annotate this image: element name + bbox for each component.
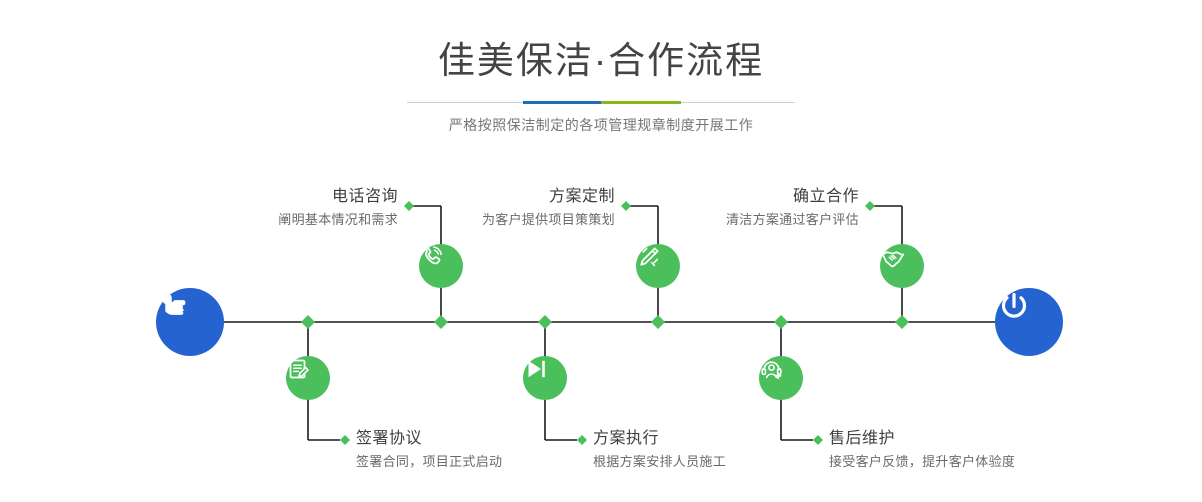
document-sign-icon [286, 356, 312, 382]
label-plan-customization: 方案定制 为客户提供项目策策划 [370, 187, 615, 229]
label-title-plan-execution: 方案执行 [593, 429, 726, 449]
diamond-label-plan-execution [577, 435, 587, 445]
handshake-icon [880, 244, 908, 272]
label-title-phone-consultation: 电话咨询 [150, 187, 398, 207]
label-desc-plan-execution: 根据方案安排人员施工 [593, 449, 726, 471]
node-icon-establish-cooperation [880, 244, 924, 288]
label-phone-consultation: 电话咨询 阐明基本情况和需求 [150, 187, 398, 229]
diamond-axis-plan-execution [538, 315, 552, 329]
skip-forward-icon [523, 356, 549, 382]
label-sign-agreement: 签署协议 签署合同，项目正式启动 [356, 429, 502, 471]
pencil-edit-icon [636, 244, 662, 270]
diamond-axis-establish-cooperation [895, 315, 909, 329]
label-plan-execution: 方案执行 根据方案安排人员施工 [593, 429, 726, 471]
label-title-after-sales-maintenance: 售后维护 [829, 429, 1015, 449]
label-title-establish-cooperation: 确立合作 [614, 187, 859, 207]
flow-diagram: 电话咨询 阐明基本情况和需求 方案定制 为客户提供项目策策划 确立合作 清洁方案… [0, 0, 1202, 502]
node-icon-plan-execution [523, 356, 567, 400]
pointing-hand-icon [156, 288, 192, 324]
phone-call-icon [419, 244, 445, 270]
node-icon-phone-consultation [419, 244, 463, 288]
label-title-sign-agreement: 签署协议 [356, 429, 502, 449]
diamond-axis-phone-consultation [434, 315, 448, 329]
label-desc-after-sales-maintenance: 接受客户反馈，提升客户体验度 [829, 449, 1015, 471]
diamond-axis-sign-agreement [301, 315, 315, 329]
power-icon [995, 288, 1033, 326]
label-desc-sign-agreement: 签署合同，项目正式启动 [356, 449, 502, 471]
label-title-plan-customization: 方案定制 [370, 187, 615, 207]
node-icon-plan-customization [636, 244, 680, 288]
diamond-label-sign-agreement [340, 435, 350, 445]
label-after-sales-maintenance: 售后维护 接受客户反馈，提升客户体验度 [829, 429, 1015, 471]
diamond-axis-after-sales-maintenance [774, 315, 788, 329]
node-icon-sign-agreement [286, 356, 330, 400]
flow-end-endpoint [995, 288, 1063, 356]
label-establish-cooperation: 确立合作 清洁方案通过客户评估 [614, 187, 859, 229]
node-icon-after-sales-maintenance [759, 356, 803, 400]
label-desc-plan-customization: 为客户提供项目策策划 [370, 207, 615, 229]
flow-start-endpoint [156, 288, 224, 356]
diamond-label-establish-cooperation [865, 201, 875, 211]
label-desc-establish-cooperation: 清洁方案通过客户评估 [614, 207, 859, 229]
customer-service-add-icon [759, 356, 785, 382]
diamond-axis-plan-customization [651, 315, 665, 329]
connector-lines [0, 0, 1202, 502]
label-desc-phone-consultation: 阐明基本情况和需求 [150, 207, 398, 229]
cooperation-flow-infographic: 佳美保洁·合作流程 严格按照保洁制定的各项管理规章制度开展工作 [0, 0, 1202, 502]
diamond-label-after-sales-maintenance [813, 435, 823, 445]
